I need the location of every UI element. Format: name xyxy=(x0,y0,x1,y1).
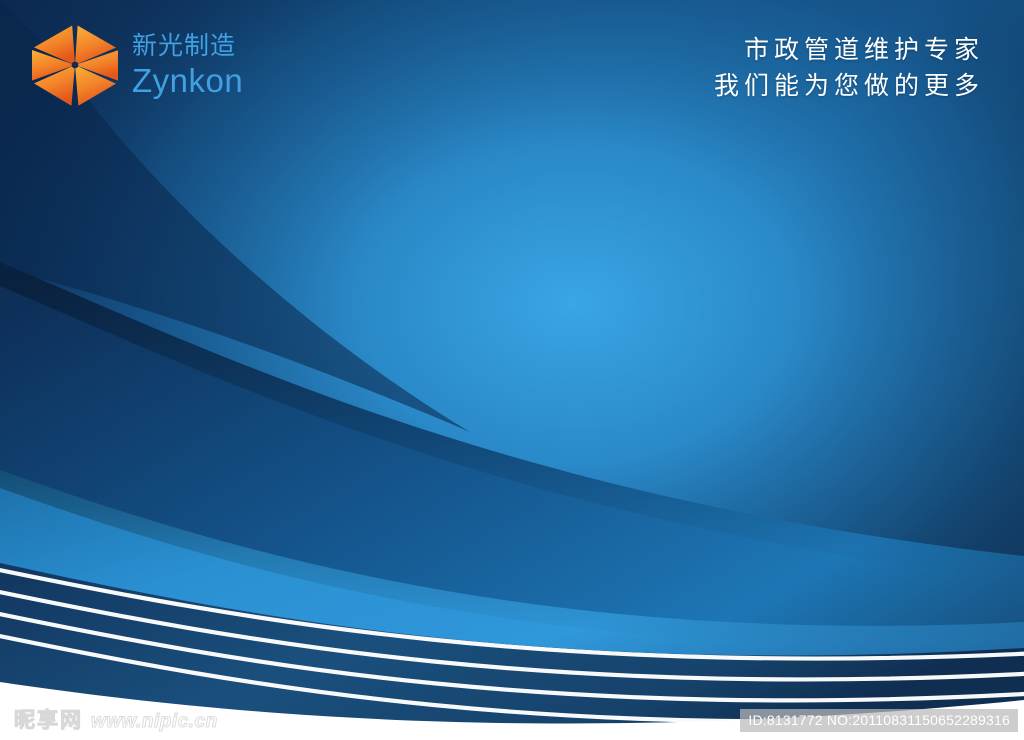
brand-text: 新光制造 Zynkon xyxy=(132,33,243,97)
watermark-site-url: www.nipic.cn xyxy=(91,711,218,734)
background-artwork xyxy=(0,0,1024,740)
brand-name-en: Zynkon xyxy=(132,64,243,97)
site-watermark: 昵享网 www.nipic.cn xyxy=(14,704,218,734)
brand-lockup: 新光制造 Zynkon xyxy=(32,22,243,108)
slogan-line-2: 我们能为您做的更多 xyxy=(714,68,984,104)
poster-canvas: 新光制造 Zynkon 市政管道维护专家 我们能为您做的更多 昵享网 www.n… xyxy=(0,0,1024,740)
image-id-stamp: ID:8131772 NO:20110831150652289316 xyxy=(740,709,1018,732)
brand-name-cn: 新光制造 xyxy=(132,33,243,58)
slogan-block: 市政管道维护专家 我们能为您做的更多 xyxy=(714,32,984,105)
slogan-line-1: 市政管道维护专家 xyxy=(714,32,984,68)
hexagon-burst-logo-icon xyxy=(32,22,118,108)
watermark-site-name: 昵享网 xyxy=(14,704,83,734)
